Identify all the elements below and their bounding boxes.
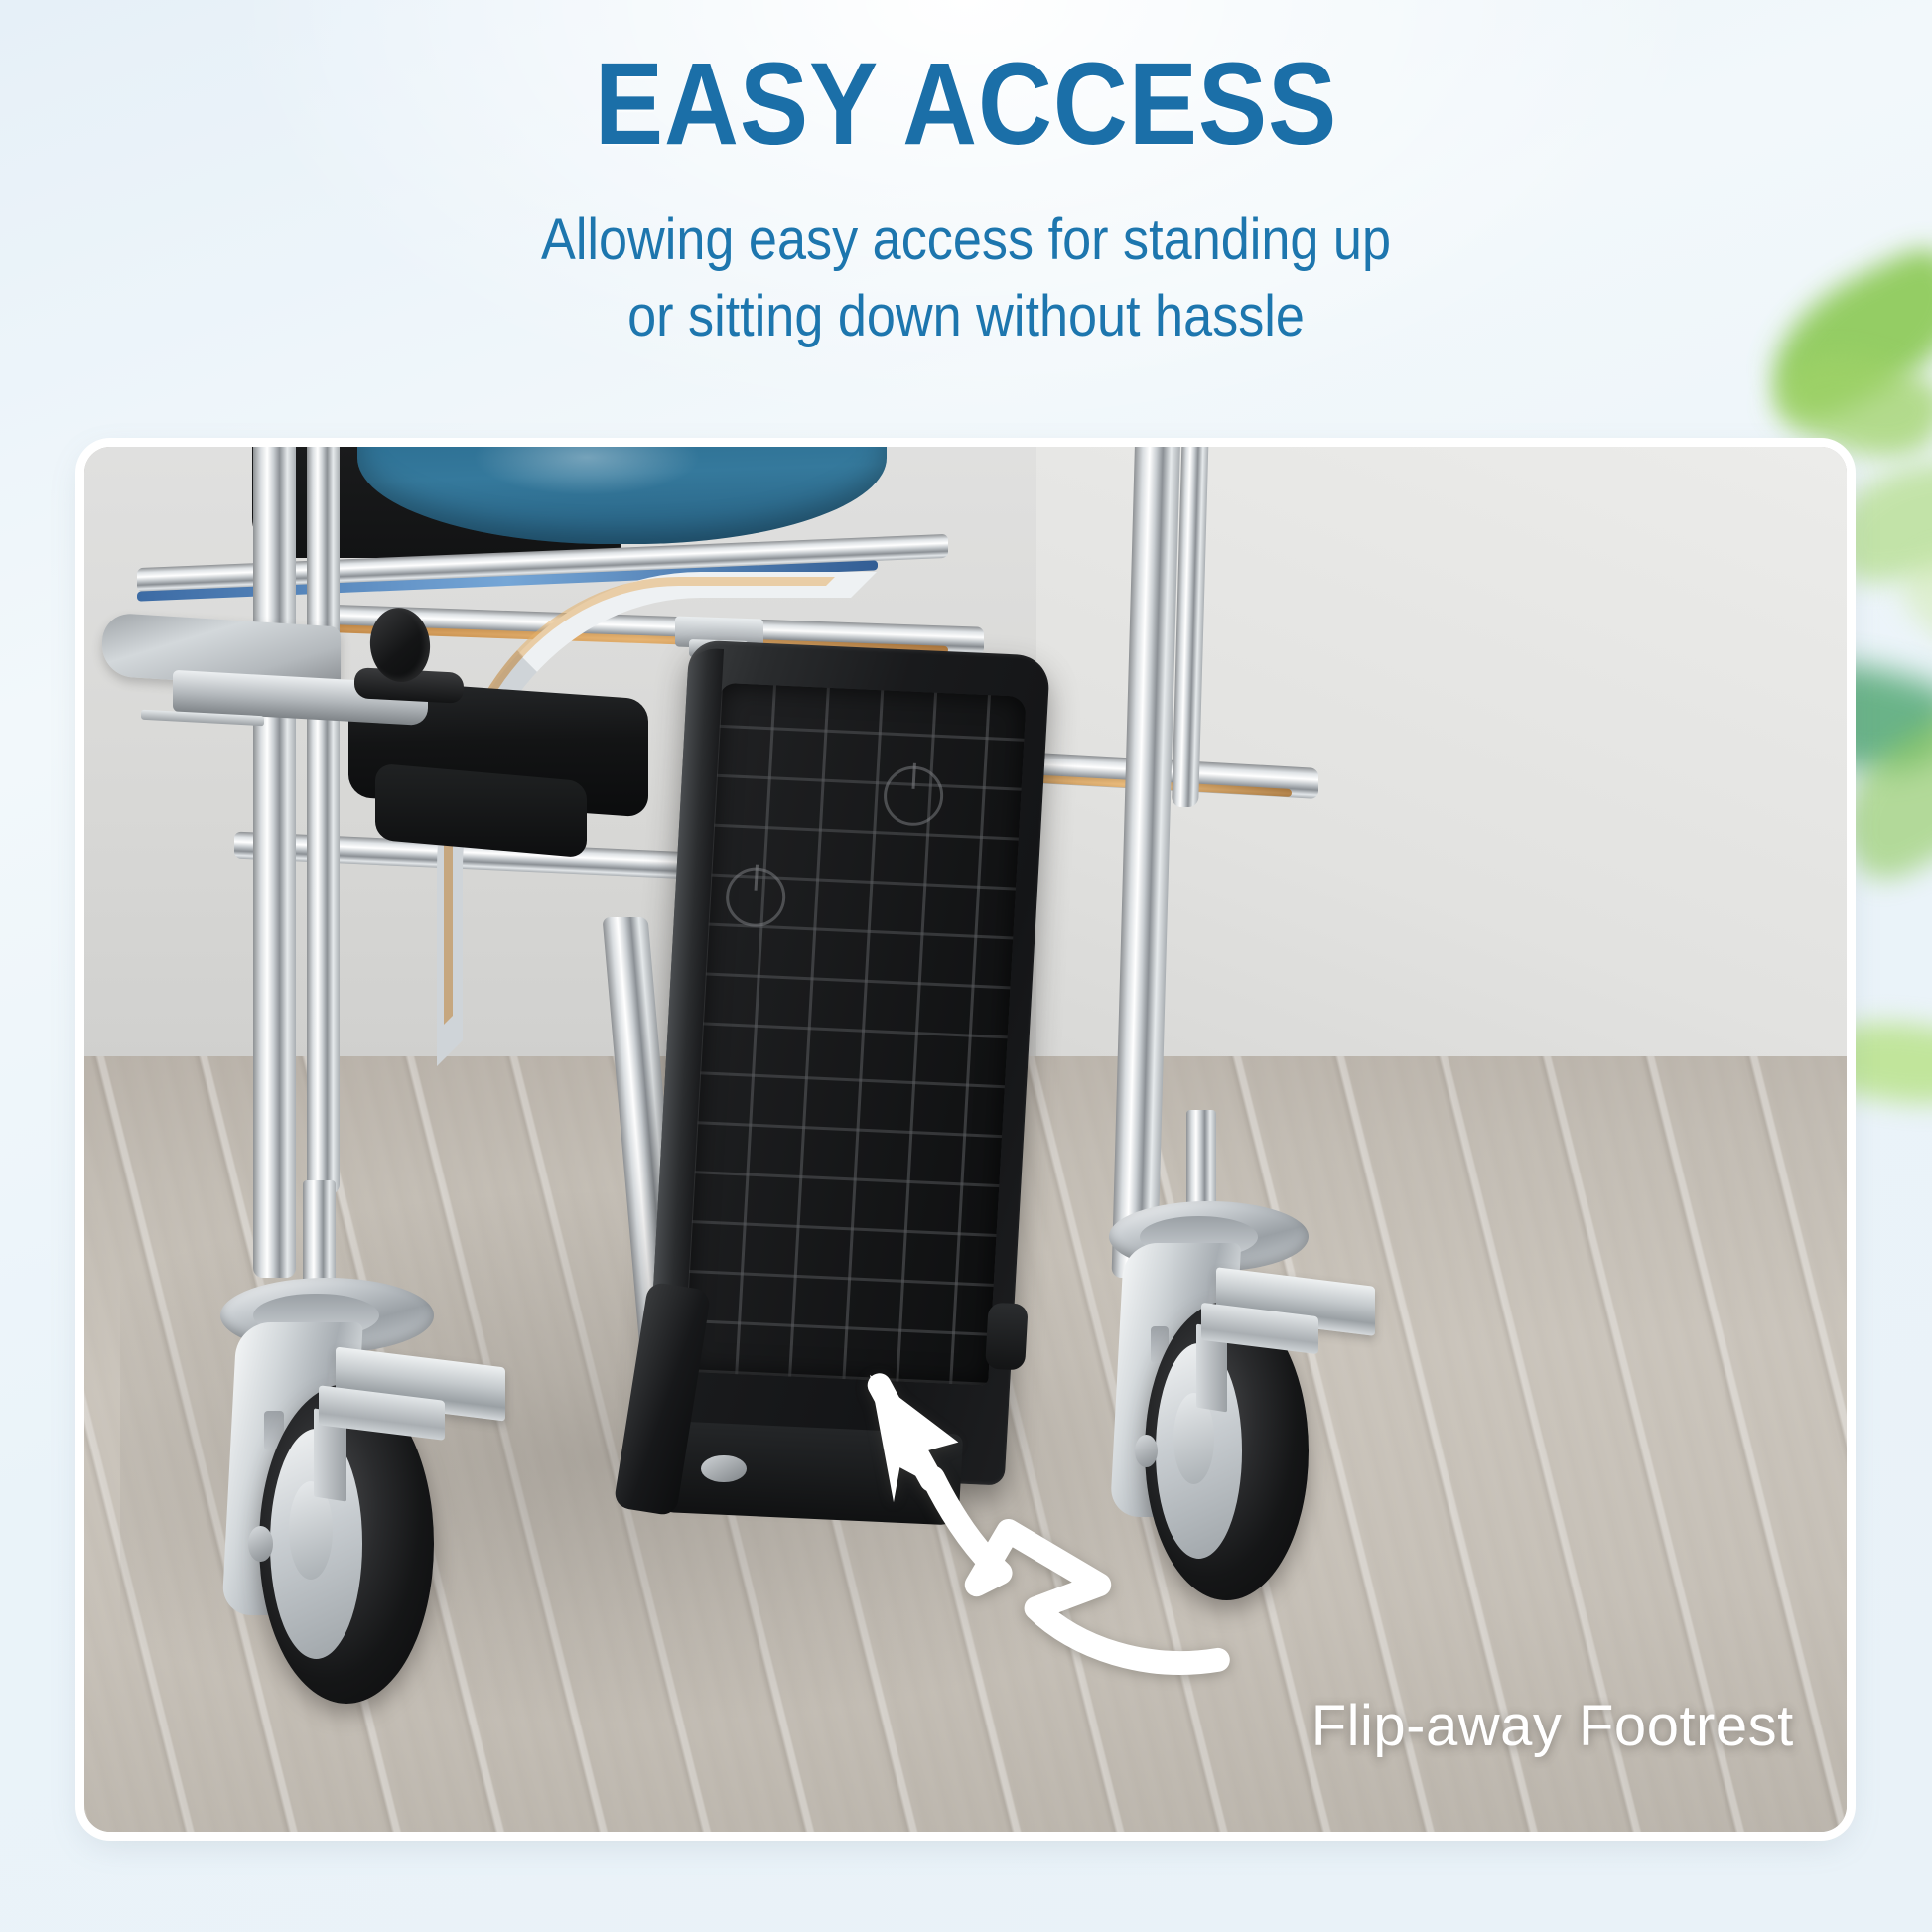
photo-scene: Flip-away Footrest [84,447,1847,1832]
caster-axle-bolt [248,1526,273,1562]
chrome-post-left [253,447,296,1278]
page-subtitle: Allowing easy access for standing up or … [96,163,1835,354]
flip-away-footrest [643,640,1050,1486]
leaf-icon [1891,528,1932,692]
footrest-stop-nub [985,1303,1029,1371]
product-photo: Flip-away Footrest [84,447,1847,1832]
subtitle-line-2: or sitting down without hassle [96,279,1835,355]
page-title: EASY ACCESS [116,0,1816,163]
promo-poster: EASY ACCESS Allowing easy access for sta… [0,0,1932,1932]
chrome-post-left-inner [307,447,341,1194]
caster-wheel-left [199,1278,472,1721]
caster-wheel-right [1089,1201,1344,1617]
header-text-block: EASY ACCESS Allowing easy access for sta… [0,0,1932,354]
subtitle-line-1: Allowing easy access for standing up [96,203,1835,279]
photo-caption: Flip-away Footrest [1311,1693,1794,1759]
footrest-grid-pattern [681,683,1027,1386]
